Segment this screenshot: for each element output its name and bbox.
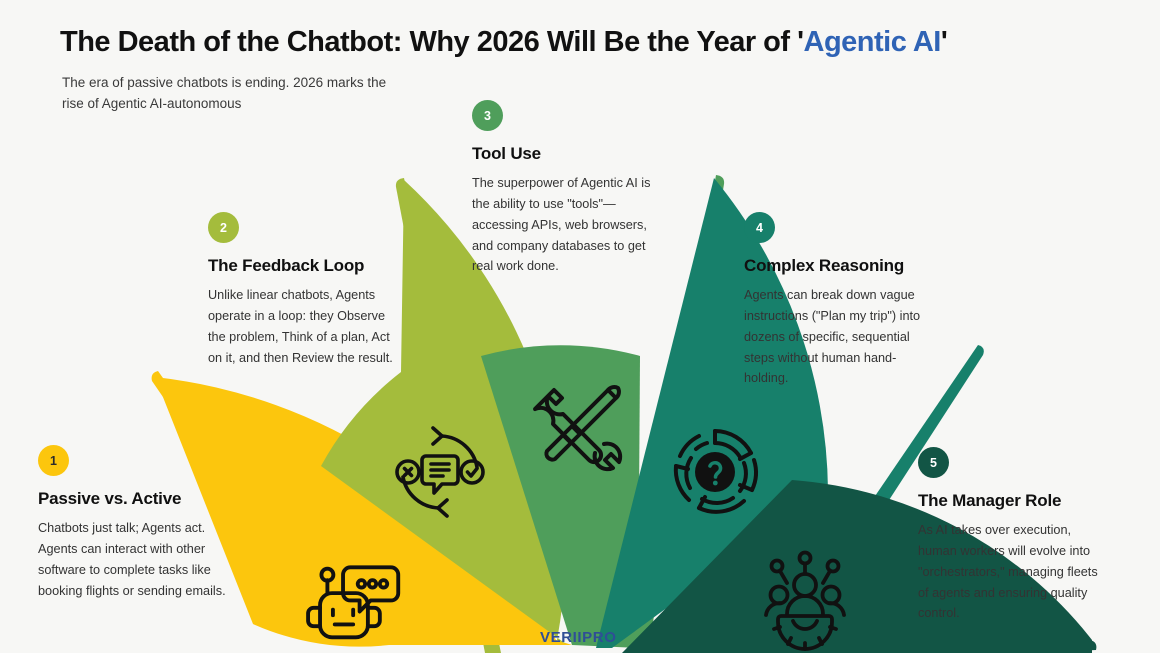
badge-number-5: 5 bbox=[918, 447, 949, 478]
callout-3-body: The superpower of Agentic AI is the abil… bbox=[472, 173, 664, 277]
badge-number-2: 2 bbox=[208, 212, 239, 243]
callout-4-body: Agents can break down vague instructions… bbox=[744, 285, 940, 389]
callout-4[interactable]: 4 Complex Reasoning Agents can break dow… bbox=[744, 212, 940, 389]
callout-3[interactable]: 3 Tool Use The superpower of Agentic AI … bbox=[472, 100, 664, 277]
badge-number-1: 1 bbox=[38, 445, 69, 476]
callout-4-title: Complex Reasoning bbox=[744, 256, 940, 276]
infographic-canvas: The Death of the Chatbot: Why 2026 Will … bbox=[0, 0, 1160, 653]
callout-2-title: The Feedback Loop bbox=[208, 256, 398, 276]
callout-1-title: Passive vs. Active bbox=[38, 489, 228, 509]
callout-5-body: As AI takes over execution, human worker… bbox=[918, 520, 1108, 624]
callout-2[interactable]: 2 The Feedback Loop Unlike linear chatbo… bbox=[208, 212, 398, 368]
callout-2-body: Unlike linear chatbots, Agents operate i… bbox=[208, 285, 398, 368]
callout-3-title: Tool Use bbox=[472, 144, 664, 164]
callout-1-body: Chatbots just talk; Agents act. Agents c… bbox=[38, 518, 228, 601]
badge-number-4: 4 bbox=[744, 212, 775, 243]
callout-5-title: The Manager Role bbox=[918, 491, 1108, 511]
callout-1[interactable]: 1 Passive vs. Active Chatbots just talk;… bbox=[38, 445, 228, 601]
veriipro-logo: VERIIPRO bbox=[540, 629, 616, 646]
badge-number-3: 3 bbox=[472, 100, 503, 131]
callout-5[interactable]: 5 The Manager Role As AI takes over exec… bbox=[918, 447, 1108, 624]
